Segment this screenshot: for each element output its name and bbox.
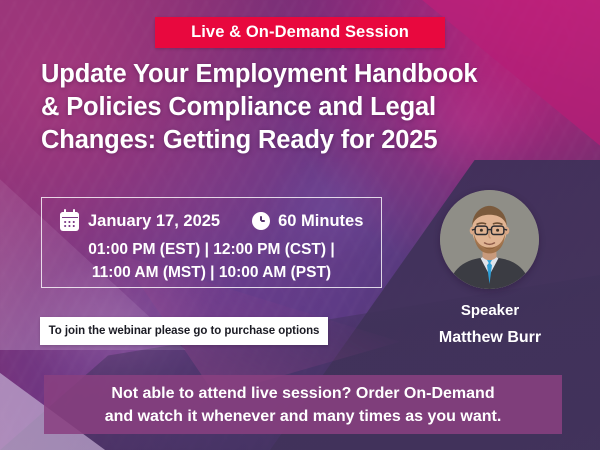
speaker-name: Matthew Burr: [410, 329, 570, 347]
purchase-options-note[interactable]: To join the webinar please go to purchas…: [40, 317, 328, 345]
clock-icon: [252, 212, 270, 230]
session-details-box: January 17, 2025 60 Minutes 01:00 PM (ES…: [41, 197, 382, 288]
session-duration: 60 Minutes: [278, 212, 363, 231]
title-line-3: Changes: Getting Ready for 2025: [41, 124, 563, 157]
title-line-2: & Policies Compliance and Legal: [41, 91, 563, 124]
webinar-promo-banner: Live & On-Demand Session Update Your Emp…: [0, 0, 600, 450]
session-date: January 17, 2025: [88, 212, 220, 231]
speaker-role-label: Speaker: [420, 302, 560, 319]
on-demand-banner: Not able to attend live session? Order O…: [44, 375, 562, 434]
timezone-line-1: 01:00 PM (EST) | 12:00 PM (CST) |: [42, 238, 381, 261]
on-demand-line-1: Not able to attend live session? Order O…: [105, 382, 502, 405]
on-demand-banner-text: Not able to attend live session? Order O…: [95, 382, 512, 428]
timezone-line-2: 11:00 AM (MST) | 10:00 AM (PST): [42, 261, 381, 284]
calendar-icon: [60, 212, 79, 231]
session-timezones: 01:00 PM (EST) | 12:00 PM (CST) | 11:00 …: [42, 238, 381, 284]
on-demand-line-2: and watch it whenever and many times as …: [105, 405, 502, 428]
title-line-1: Update Your Employment Handbook: [41, 58, 563, 91]
page-title: Update Your Employment Handbook & Polici…: [41, 58, 563, 157]
session-date-duration-row: January 17, 2025 60 Minutes: [42, 208, 381, 234]
banner-content: Live & On-Demand Session Update Your Emp…: [0, 0, 600, 450]
session-type-badge: Live & On-Demand Session: [155, 17, 445, 48]
avatar: [440, 190, 539, 289]
